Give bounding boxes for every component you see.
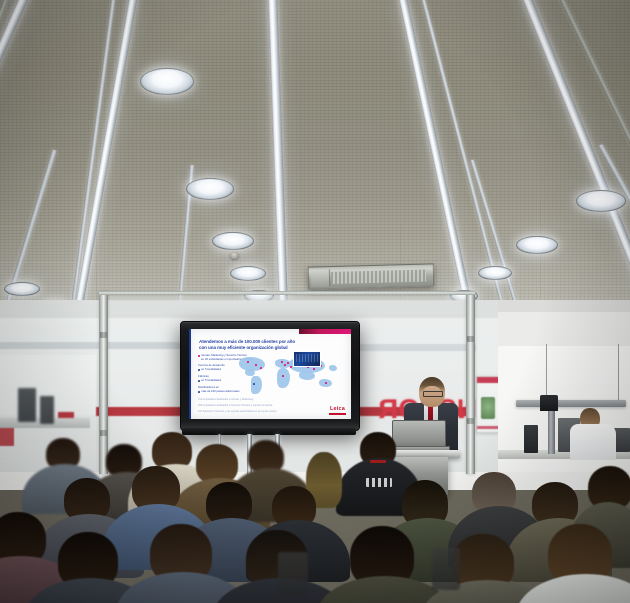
- presentation-room-photo: INSPOR Aten: [0, 0, 630, 603]
- bullet-text: en 5 localidades: [201, 379, 221, 382]
- slide-footer-line: 700 empleados dedicados a Ventas y Marke…: [198, 399, 253, 402]
- smoke-detector-icon: [230, 252, 239, 259]
- bullet-dot-icon: [198, 355, 200, 357]
- hvac-diffuser: [308, 263, 435, 289]
- ceiling: [0, 0, 630, 318]
- downlight: [230, 266, 266, 281]
- hvac-end-cap: [311, 269, 330, 286]
- slide-screen: Atendemos a más de 100.000 clientes por …: [189, 329, 351, 419]
- audience: [0, 430, 630, 603]
- downlight: [4, 282, 40, 296]
- slide-footer-line: 110 Servicios Técnicos y de soporte auto…: [198, 411, 277, 414]
- slide-bullet: Fábricas: [198, 375, 209, 378]
- downlight: [516, 236, 558, 254]
- leica-logo-bar: [329, 413, 346, 415]
- bullet-text: Fábricas: [198, 375, 209, 378]
- speaker-glasses: [423, 391, 443, 397]
- bullet-dot-icon: [198, 391, 200, 393]
- slide-left-accent: [189, 329, 191, 419]
- bullet-text: Distribuidores en: [198, 386, 219, 389]
- slide-top-accent: [299, 329, 351, 334]
- downlight: [478, 266, 512, 280]
- hvac-grille: [331, 269, 426, 284]
- slide-bullet: Centros de desarrollo: [198, 364, 225, 367]
- chair-back: [278, 552, 308, 596]
- slide-bullet: más de 100 países adicionales: [198, 390, 240, 393]
- downlight: [140, 68, 194, 95]
- downlight: [576, 190, 626, 212]
- leica-logo: Leica: [329, 407, 346, 415]
- leica-wordmark: Leica: [330, 407, 345, 413]
- slide-photo-inset: [293, 351, 321, 367]
- lanyard: [370, 460, 386, 463]
- bullet-dot-icon: [198, 369, 200, 371]
- chair-back: [432, 548, 460, 590]
- bullet-text: Centros de desarrollo: [198, 364, 225, 367]
- tee-graphic: [366, 478, 392, 487]
- glass-hinge: [467, 336, 474, 342]
- presentation-display: Atendemos a más de 100.000 clientes por …: [180, 321, 360, 431]
- world-map: [237, 355, 341, 399]
- slide-bullet: Distribuidores en: [198, 386, 219, 389]
- slide-title-line2: con una muy eficiente organización globa…: [199, 345, 345, 351]
- slide-footer-line: 250 empleados dedicados a Servicio Técni…: [198, 405, 273, 408]
- slide-bullet: en 6 localidades: [198, 368, 221, 371]
- glass-hinge: [100, 332, 107, 338]
- bullet-text: en 6 localidades: [201, 368, 221, 371]
- downlight: [212, 232, 254, 250]
- slide-bullet: en 5 localidades: [198, 379, 221, 382]
- bullet-dot-icon: [198, 380, 200, 382]
- glass-header-rail: [99, 291, 475, 295]
- pendant-light: [516, 400, 626, 407]
- glass-hinge: [467, 418, 474, 424]
- slide-title-line1: Atendemos a más de 100.000 clientes por …: [199, 339, 345, 345]
- pendant-wire: [618, 344, 619, 402]
- downlight: [186, 178, 234, 200]
- bullet-text: más de 100 países adicionales: [201, 390, 239, 393]
- pendant-wire: [546, 344, 547, 402]
- microscope-head: [540, 395, 558, 411]
